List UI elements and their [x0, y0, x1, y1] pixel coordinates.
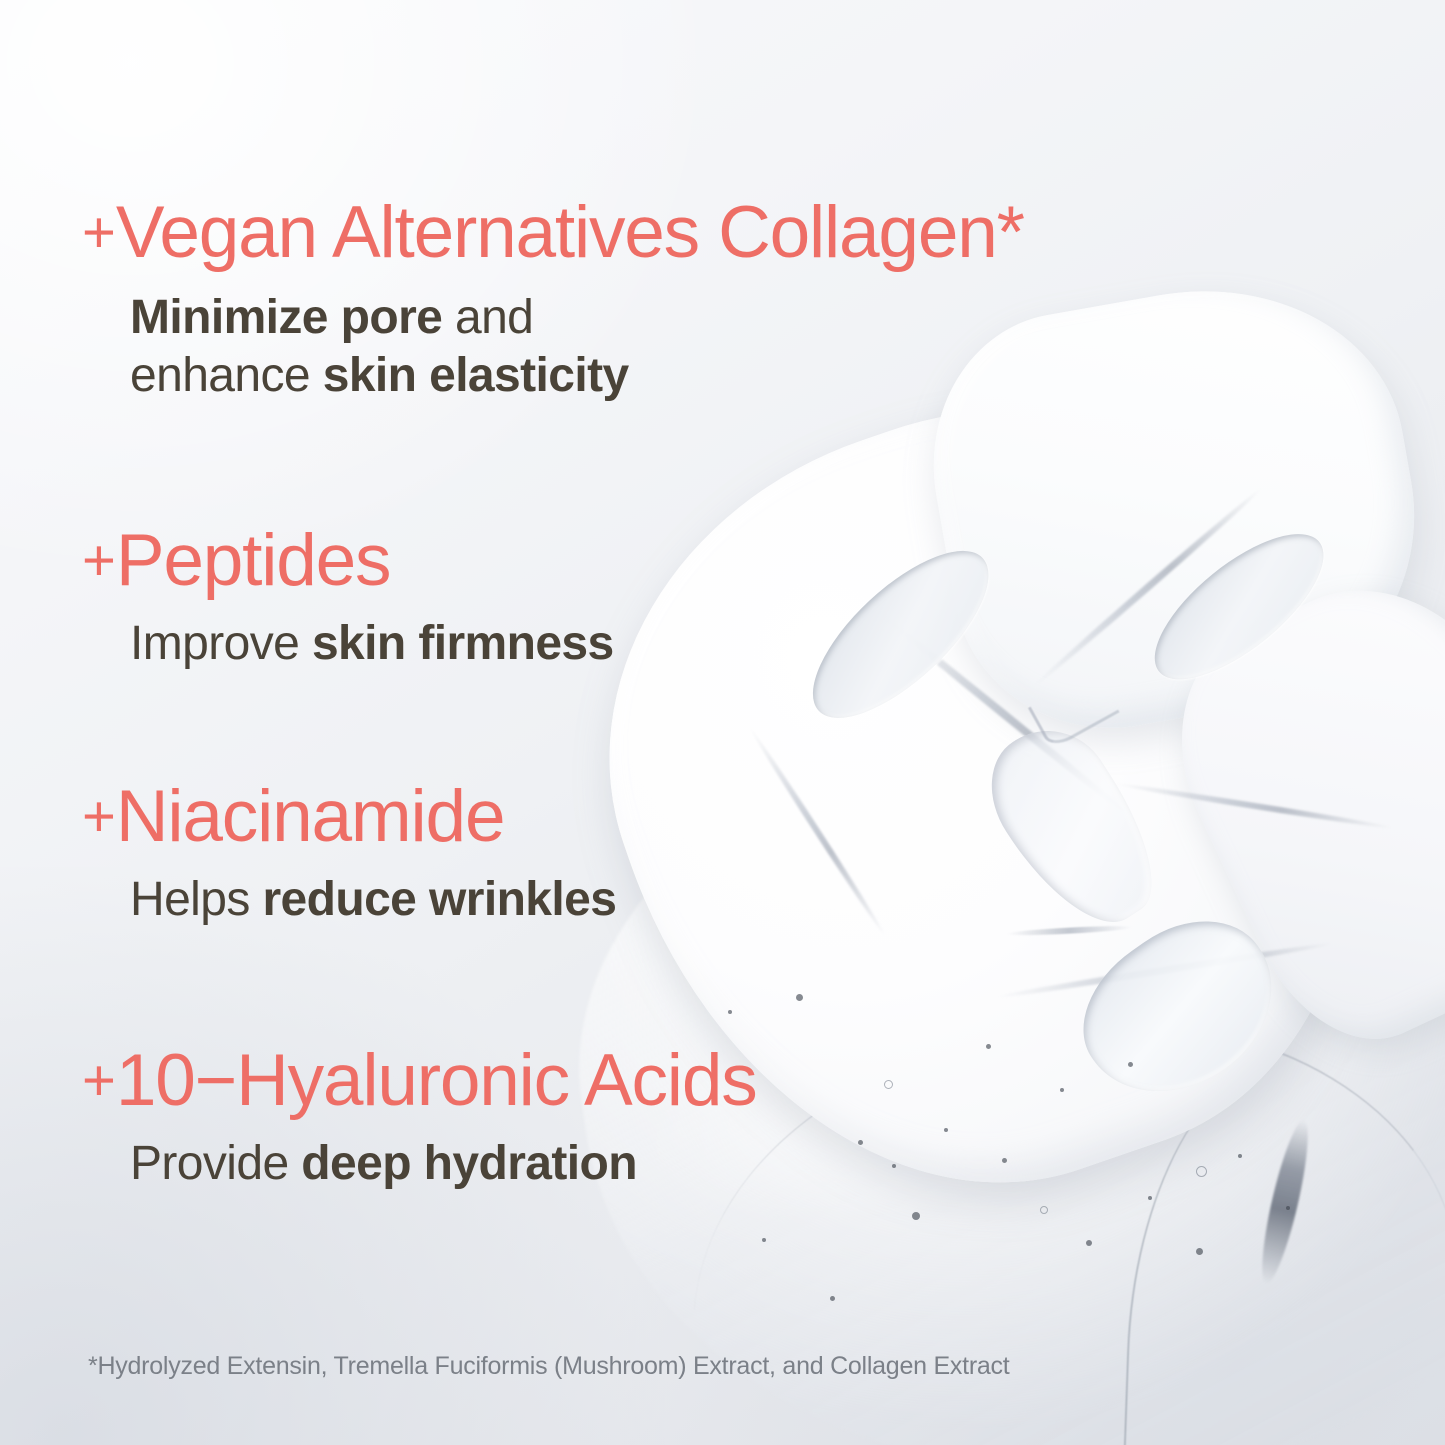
benefit-item-hyaluronic-acids: +10−Hyaluronic Acids Provide deep hydrat…: [82, 1044, 757, 1193]
benefit-plain: enhance: [130, 349, 323, 402]
benefit-plain: Provide: [130, 1137, 301, 1190]
benefit-heading: +Vegan Alternatives Collagen*: [82, 196, 1024, 269]
benefit-item-peptides: +Peptides Improve skin firmness: [82, 524, 614, 673]
benefit-heading: +Niacinamide: [82, 780, 616, 853]
plus-icon: +: [82, 528, 116, 593]
benefit-emphasis: deep hydration: [301, 1137, 637, 1190]
benefit-heading-text: 10−Hyaluronic Acids: [116, 1040, 757, 1121]
benefit-plain: and: [442, 291, 533, 344]
benefit-heading-text: Niacinamide: [116, 776, 504, 857]
benefits-list: +Vegan Alternatives Collagen* Minimize p…: [0, 0, 1445, 1445]
benefit-emphasis: reduce wrinkles: [262, 873, 616, 926]
plus-icon: +: [82, 1048, 116, 1113]
plus-icon: +: [82, 784, 116, 849]
plus-icon: +: [82, 200, 116, 265]
benefit-item-collagen: +Vegan Alternatives Collagen* Minimize p…: [82, 196, 1024, 404]
benefit-description: Improve skin firmness: [130, 615, 614, 673]
benefit-heading-text: Peptides: [116, 520, 391, 601]
benefit-description-line: Provide deep hydration: [130, 1135, 757, 1193]
benefit-heading: +Peptides: [82, 524, 614, 597]
benefit-description: Minimize pore and enhance skin elasticit…: [130, 289, 1024, 404]
benefit-emphasis: skin firmness: [312, 617, 614, 670]
benefit-emphasis: skin elasticity: [323, 349, 629, 402]
benefit-heading-text: Vegan Alternatives Collagen*: [116, 192, 1024, 273]
benefit-description-line: Minimize pore and: [130, 289, 1024, 347]
benefit-description-line: enhance skin elasticity: [130, 347, 1024, 405]
ingredient-footnote: *Hydrolyzed Extensin, Tremella Fuciformi…: [88, 1352, 1010, 1381]
benefit-heading: +10−Hyaluronic Acids: [82, 1044, 757, 1117]
product-marketing-image: +Vegan Alternatives Collagen* Minimize p…: [0, 0, 1445, 1445]
benefit-description-line: Helps reduce wrinkles: [130, 871, 616, 929]
benefit-description: Provide deep hydration: [130, 1135, 757, 1193]
benefit-plain: Improve: [130, 617, 312, 670]
benefit-plain: Helps: [130, 873, 262, 926]
benefit-description: Helps reduce wrinkles: [130, 871, 616, 929]
benefit-description-line: Improve skin firmness: [130, 615, 614, 673]
benefit-emphasis: Minimize pore: [130, 291, 442, 344]
benefit-item-niacinamide: +Niacinamide Helps reduce wrinkles: [82, 780, 616, 929]
